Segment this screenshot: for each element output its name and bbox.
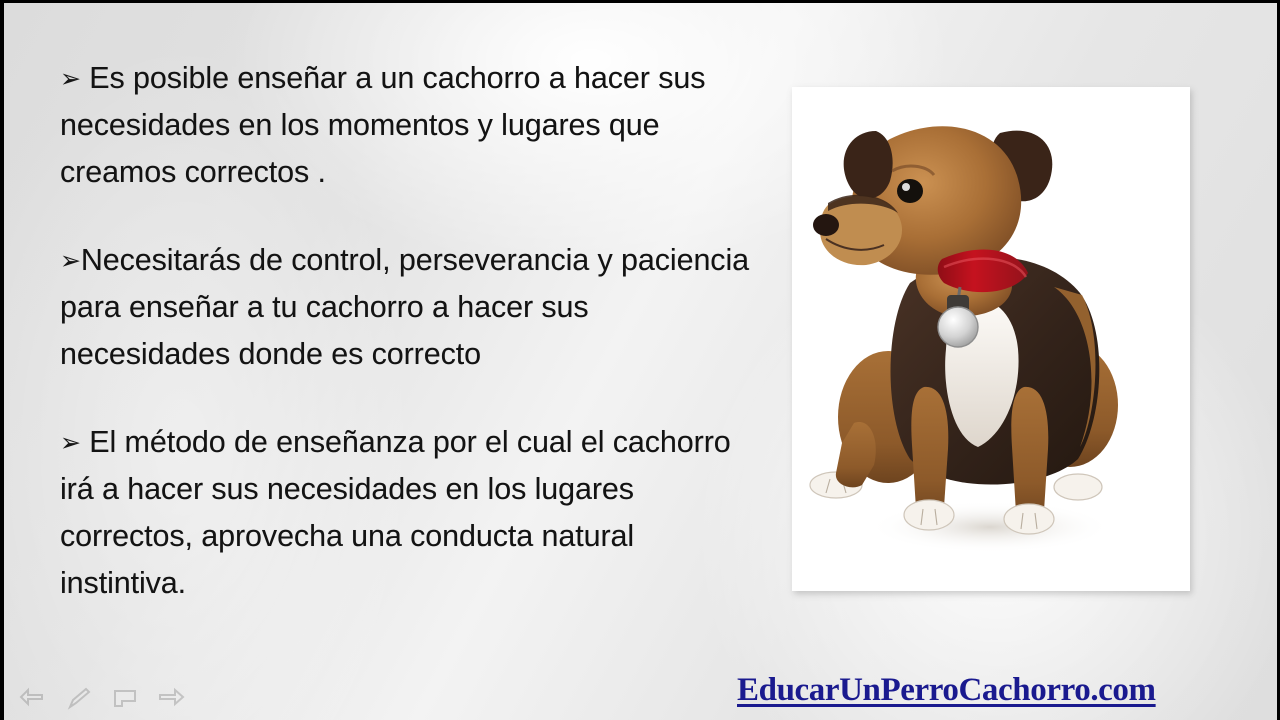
bullet-text-1: Es posible enseñar a un cachorro a hacer… — [60, 61, 705, 189]
slideshow-controls — [18, 686, 186, 712]
nose — [813, 214, 839, 236]
arrowhead-bullet-icon: ➢ — [60, 246, 81, 275]
slide-menu-icon[interactable] — [110, 686, 140, 712]
presentation-slide: ➢ Es posible enseñar a un cachorro a hac… — [0, 0, 1280, 720]
eye-highlight — [902, 183, 910, 191]
slide-body-text: ➢ Es posible enseñar a un cachorro a hac… — [60, 55, 760, 607]
bullet-paragraph-3: ➢ El método de enseñanza por el cual el … — [60, 419, 760, 607]
puppy-photo — [792, 87, 1190, 591]
previous-slide-arrow-icon[interactable] — [18, 686, 48, 712]
bullet-text-3: El método de enseñanza por el cual el ca… — [60, 425, 731, 600]
collar-tag — [938, 307, 978, 347]
eye — [897, 179, 923, 203]
front-left-paw — [904, 500, 954, 530]
bullet-paragraph-2: ➢Necesitarás de control, perseverancia y… — [60, 237, 760, 378]
puppy-illustration — [792, 87, 1190, 591]
arrowhead-bullet-icon: ➢ — [60, 64, 81, 93]
bullet-text-2: Necesitarás de control, perseverancia y … — [60, 243, 749, 371]
bullet-paragraph-1: ➢ Es posible enseñar a un cachorro a hac… — [60, 55, 760, 196]
ground-shadow — [868, 501, 1112, 553]
rear-right-paw — [1054, 474, 1102, 500]
front-right-paw — [1004, 504, 1054, 534]
arrowhead-bullet-icon: ➢ — [60, 428, 81, 457]
pen-annotation-icon[interactable] — [64, 686, 94, 712]
next-slide-arrow-icon[interactable] — [156, 686, 186, 712]
site-watermark[interactable]: EducarUnPerroCachorro.com — [737, 672, 1156, 709]
